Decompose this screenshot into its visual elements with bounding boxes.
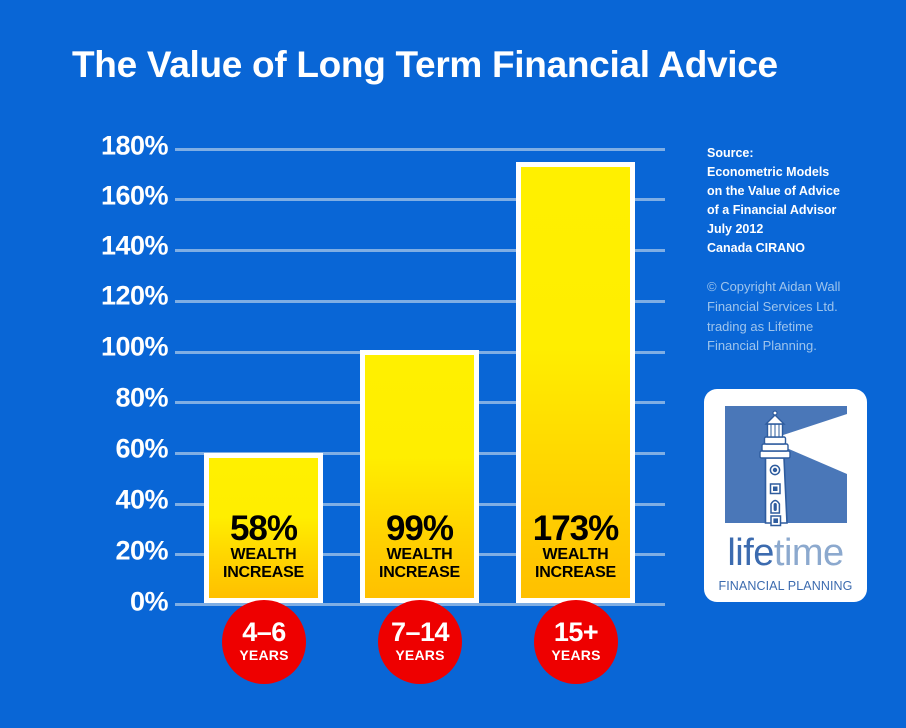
y-tick-180: 180%: [60, 131, 168, 162]
badge-unit: YEARS: [395, 646, 444, 666]
source-line-1: Source:: [707, 144, 882, 163]
y-tick-0: 0%: [60, 587, 168, 618]
source-line-5: July 2012: [707, 220, 882, 239]
badge-range: 7–14: [391, 619, 449, 646]
copyright-note: © Copyright Aidan Wall Financial Service…: [707, 277, 882, 356]
logo-wordmark: lifetime: [727, 534, 843, 572]
source-line-6: Canada CIRANO: [707, 239, 882, 258]
bar-sublabel-line2: INCREASE: [535, 564, 616, 581]
category-badge-7-14-years[interactable]: 7–14 YEARS: [378, 600, 462, 684]
badge-unit: YEARS: [551, 646, 600, 666]
badge-range: 15+: [554, 619, 598, 646]
bar-4-6-years[interactable]: 58% WEALTH INCREASE: [204, 453, 323, 603]
lifetime-logo-card: lifetime FINANCIAL PLANNING: [704, 389, 867, 602]
badge-range: 4–6: [242, 619, 286, 646]
bar-fill: 173% WEALTH INCREASE: [516, 162, 635, 603]
bar-sublabel: WEALTH INCREASE: [379, 546, 460, 582]
category-badge-15-plus-years[interactable]: 15+ YEARS: [534, 600, 618, 684]
bar-value-label: 58%: [230, 511, 297, 547]
source-note: Source: Econometric Models on the Value …: [707, 144, 882, 258]
y-tick-60: 60%: [60, 434, 168, 465]
bar-sublabel: WEALTH INCREASE: [535, 546, 616, 582]
y-tick-80: 80%: [60, 383, 168, 414]
copyright-line-3: trading as Lifetime: [707, 317, 882, 337]
badge-unit: YEARS: [239, 646, 288, 666]
bar-sublabel: WEALTH INCREASE: [223, 546, 304, 582]
category-badge-4-6-years[interactable]: 4–6 YEARS: [222, 600, 306, 684]
bar-series: 58% WEALTH INCREASE 99% WEALTH INCREASE …: [175, 148, 665, 603]
bar-value-label: 99%: [386, 511, 453, 547]
bar-value-label: 173%: [533, 511, 619, 547]
bar-sublabel-line2: INCREASE: [379, 564, 460, 581]
source-line-2: Econometric Models: [707, 163, 882, 182]
copyright-line-4: Financial Planning.: [707, 336, 882, 356]
bar-7-14-years[interactable]: 99% WEALTH INCREASE: [360, 350, 479, 603]
bar-sublabel-line2: INCREASE: [223, 564, 304, 581]
logo-word-time: time: [774, 532, 844, 574]
bar-15-plus-years[interactable]: 173% WEALTH INCREASE: [516, 162, 635, 603]
logo-word-life: life: [727, 532, 774, 574]
logo-tagline: FINANCIAL PLANNING: [718, 579, 852, 593]
source-line-3: on the Value of Advice: [707, 182, 882, 201]
bar-fill: 58% WEALTH INCREASE: [204, 453, 323, 603]
copyright-line-2: Financial Services Ltd.: [707, 297, 882, 317]
bar-sublabel-line1: WEALTH: [386, 546, 452, 563]
y-tick-160: 160%: [60, 181, 168, 212]
source-line-4: of a Financial Advisor: [707, 201, 882, 220]
y-axis: 180% 160% 140% 120% 100% 80% 60% 40% 20%…: [60, 128, 168, 624]
y-tick-100: 100%: [60, 332, 168, 363]
y-tick-40: 40%: [60, 485, 168, 516]
y-tick-120: 120%: [60, 281, 168, 312]
y-tick-140: 140%: [60, 231, 168, 262]
bar-sublabel-line1: WEALTH: [542, 546, 608, 563]
page-title: The Value of Long Term Financial Advice: [72, 44, 778, 86]
bar-sublabel-line1: WEALTH: [230, 546, 296, 563]
bar-fill: 99% WEALTH INCREASE: [360, 350, 479, 603]
y-tick-20: 20%: [60, 536, 168, 567]
copyright-line-1: © Copyright Aidan Wall: [707, 277, 882, 297]
lighthouse-icon: [721, 402, 851, 532]
